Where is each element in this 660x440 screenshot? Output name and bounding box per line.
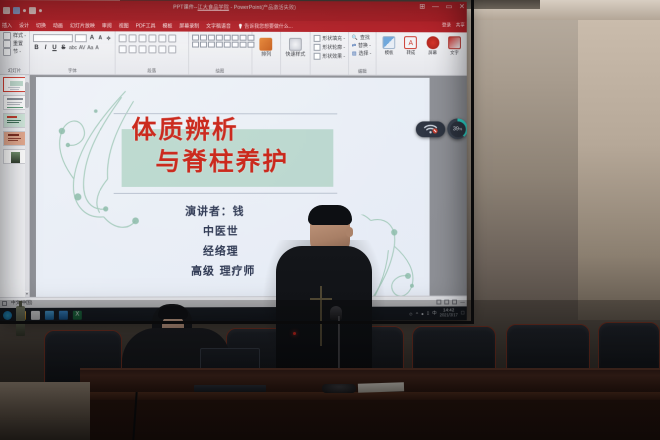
- presenter-hair: [308, 205, 352, 225]
- presenter-jacket-zip: [320, 286, 322, 346]
- presenter-jacket-detail: [310, 298, 332, 300]
- decrease-indent-icon[interactable]: [139, 34, 147, 42]
- arrange-label[interactable]: 排列: [261, 52, 271, 58]
- tab-speech[interactable]: 文字稿语音: [206, 23, 231, 30]
- tab-transitions[interactable]: 切换: [36, 22, 46, 29]
- tab-insert[interactable]: 插入: [2, 22, 12, 29]
- ribbon-group-drawing[interactable]: 绘图: [189, 32, 252, 75]
- ribbon-options-icon[interactable]: ⊞: [419, 4, 425, 12]
- shape-gallery[interactable]: [192, 35, 248, 48]
- numbering-icon[interactable]: [129, 34, 137, 42]
- slide-thumbnail-pane[interactable]: ▲: [0, 75, 30, 297]
- signin-button[interactable]: 登录: [442, 22, 451, 28]
- device-indicator-light: [293, 332, 296, 335]
- ribbon-group-paragraph[interactable]: 段落: [116, 31, 189, 74]
- shape-bracket-icon[interactable]: [215, 42, 222, 48]
- align-left-icon[interactable]: [119, 45, 127, 53]
- thumbnail-slide-2[interactable]: [3, 95, 26, 110]
- shape-oval-icon[interactable]: [231, 35, 238, 41]
- addin-speech[interactable]: 文字: [445, 36, 464, 55]
- shape-round-rect-icon[interactable]: [223, 35, 230, 41]
- ribbon-group-arrange[interactable]: 排列: [252, 32, 281, 75]
- projection-screen: PPT课件--江大食品学院 - PowerPoint(产品激活失败) ⊞ — ▭…: [0, 0, 467, 322]
- presenter-ear: [346, 227, 353, 237]
- reading-view-icon[interactable]: [452, 299, 457, 304]
- group-label-paragraph: 段落: [116, 68, 188, 74]
- decrease-font-icon[interactable]: A: [97, 35, 103, 41]
- editing-area: ▲: [0, 75, 467, 297]
- slide-subtitle-line-2[interactable]: 中医世: [203, 223, 239, 239]
- thumbnail-slide-1[interactable]: [3, 77, 26, 92]
- ribbon-group-quick-styles[interactable]: 快速样式: [281, 32, 310, 75]
- thumbnail-scrollbar[interactable]: [25, 76, 29, 291]
- thumbnail-slide-4[interactable]: [3, 131, 26, 146]
- attendee-hair: [158, 306, 188, 319]
- columns-icon[interactable]: [158, 45, 166, 53]
- chevron-up-icon[interactable]: ^: [416, 311, 418, 316]
- shape-square-icon[interactable]: [215, 35, 222, 41]
- shape-brace-icon[interactable]: [207, 42, 214, 48]
- conference-desk: [80, 368, 660, 440]
- shape-effects-icon[interactable]: [313, 53, 320, 60]
- shape-fill-icon[interactable]: [313, 35, 320, 42]
- maximize-button[interactable]: ▭: [446, 4, 452, 12]
- group-label-editing: 编辑: [349, 69, 376, 75]
- clock-date: 2021/3/17: [440, 313, 458, 318]
- shape-line-icon[interactable]: [200, 35, 207, 41]
- bold-button[interactable]: B: [33, 45, 40, 51]
- battery-percent-label: 39%: [450, 121, 466, 137]
- sorter-view-icon[interactable]: [445, 299, 450, 304]
- system-tray[interactable]: ☺ ^ ● ▯ 中 14:42 2021/3/17 ☐: [408, 309, 464, 318]
- share-button[interactable]: 共享: [456, 22, 465, 28]
- shape-triangle-icon[interactable]: [239, 35, 246, 41]
- slide-subtitle-line-1[interactable]: 演讲者：钱: [185, 203, 244, 219]
- close-button[interactable]: ✕: [459, 4, 465, 12]
- ribbon-group-shape-format[interactable]: 形状填充 - 形状轮廓 - 形状效果 -: [311, 32, 349, 75]
- increase-font-icon[interactable]: A: [89, 35, 95, 41]
- quick-style-icon[interactable]: [289, 38, 302, 51]
- ribbon-group-slides[interactable]: 样式 - 重置 节 - 幻灯片: [0, 31, 30, 74]
- select-label[interactable]: 选择 -: [359, 51, 372, 57]
- slide-count-icon: [2, 300, 7, 305]
- reset-icon[interactable]: [3, 40, 11, 48]
- title-bar: PPT课件--江大食品学院 - PowerPoint(产品激活失败) ⊞ — ▭…: [0, 0, 467, 22]
- zoom-level[interactable]: —: [460, 299, 464, 304]
- shape-arrow-icon[interactable]: [207, 35, 214, 41]
- battery-ring[interactable]: 39%: [447, 118, 467, 139]
- shape-banner-icon[interactable]: [231, 42, 238, 48]
- strikethrough-icon[interactable]: abc: [69, 45, 77, 51]
- powerpoint-window: PPT课件--江大食品学院 - PowerPoint(产品激活失败) ⊞ — ▭…: [0, 0, 467, 308]
- scene: PPT课件--江大食品学院 - PowerPoint(产品激活失败) ⊞ — ▭…: [0, 0, 660, 440]
- text-direction-icon[interactable]: [168, 34, 176, 42]
- desk-edge-trim: [80, 392, 660, 400]
- network-icon[interactable]: ▯: [427, 310, 429, 316]
- floating-status-widget[interactable]: 39%: [416, 118, 467, 139]
- ribbon-group-editing[interactable]: 🔍查找 ⇄替换 - ▧选择 - 编辑: [349, 32, 377, 75]
- ime-icon[interactable]: 中: [432, 310, 437, 316]
- convert-smartart-icon[interactable]: [168, 45, 176, 53]
- thumbnail-scroll-thumb[interactable]: [25, 82, 29, 108]
- line-spacing-icon[interactable]: [158, 34, 166, 42]
- group-label-drawing: 绘图: [189, 68, 251, 74]
- underline-button[interactable]: U: [51, 45, 58, 51]
- ribbon[interactable]: 样式 - 重置 节 - 幻灯片 A A ✧ B I: [0, 31, 467, 76]
- increase-indent-icon[interactable]: [149, 34, 157, 42]
- italic-button[interactable]: I: [42, 45, 49, 51]
- papers-on-desk: [358, 382, 404, 393]
- change-case-icon[interactable]: Aa: [87, 45, 93, 51]
- taskbar-clock[interactable]: 14:42 2021/3/17: [440, 309, 458, 318]
- wifi-off-icon[interactable]: [416, 121, 445, 137]
- windows-taskbar[interactable]: X ☺ ^ ● ▯ 中 14:42 2021/3/17 ☐: [0, 306, 467, 322]
- section-icon[interactable]: [3, 48, 11, 56]
- bullets-icon[interactable]: [119, 34, 127, 42]
- status-right-group[interactable]: —: [437, 299, 465, 304]
- title-rule-bottom: [114, 193, 338, 194]
- title-activation-note: (产品激活失败): [261, 5, 296, 11]
- addin-templates[interactable]: 模板: [380, 36, 399, 55]
- tell-me-search[interactable]: 告诉我您想要做什么...: [238, 23, 293, 30]
- thumbnail-slide-5[interactable]: [3, 149, 26, 164]
- shape-rect-icon[interactable]: [192, 35, 199, 41]
- title-link: 江大食品学院: [198, 5, 229, 11]
- excel-icon[interactable]: X: [73, 310, 82, 319]
- tab-animations[interactable]: 动画: [53, 22, 63, 29]
- slide-subtitle-line-3[interactable]: 经络理: [203, 243, 239, 259]
- tab-screen-record[interactable]: 屏幕录制: [179, 23, 199, 30]
- slide-subtitle-line-4[interactable]: 高级 理疗师: [191, 262, 255, 278]
- group-label-slides: 幻灯片: [0, 68, 29, 74]
- ribbon-group-pdf-addins[interactable]: 模板 A 转成 屏幕 文字: [377, 32, 467, 75]
- font-size-input[interactable]: [75, 34, 87, 42]
- podium-left: [0, 382, 90, 440]
- person-icon[interactable]: ☺: [408, 311, 413, 316]
- edge-icon[interactable]: [3, 310, 12, 319]
- tab-slideshow[interactable]: 幻灯片放映: [70, 22, 95, 29]
- tab-view[interactable]: 视图: [119, 22, 129, 29]
- justify-icon[interactable]: [149, 45, 157, 53]
- mail-icon[interactable]: [45, 310, 54, 319]
- replace-label[interactable]: 替换 -: [358, 43, 371, 49]
- shape-pentagon-icon[interactable]: [200, 42, 207, 48]
- lock-icon[interactable]: [31, 310, 40, 319]
- shape-callout-icon[interactable]: [239, 42, 246, 48]
- thumbnail-slide-3[interactable]: [3, 113, 26, 128]
- char-spacing-icon[interactable]: AV: [79, 45, 85, 51]
- tab-design[interactable]: 设计: [19, 22, 29, 29]
- arrange-icon[interactable]: [260, 38, 273, 51]
- microphone-head: [330, 306, 342, 320]
- layout-icon[interactable]: [3, 32, 11, 40]
- title-app: - PowerPoint: [229, 5, 261, 11]
- normal-view-icon[interactable]: [437, 299, 442, 304]
- slide-title-line-1[interactable]: 体质辨析: [132, 117, 239, 143]
- right-wall: [578, 0, 660, 320]
- shape-diamond-icon[interactable]: [192, 42, 199, 48]
- title-prefix: PPT课件--: [173, 5, 197, 11]
- shape-outline-icon[interactable]: [313, 44, 320, 51]
- clear-formatting-icon[interactable]: ✧: [105, 35, 111, 42]
- addin-screen-record[interactable]: 屏幕: [423, 36, 442, 55]
- minimize-button[interactable]: —: [432, 4, 439, 12]
- tab-pdf-tools[interactable]: PDF工具: [136, 22, 156, 29]
- align-right-icon[interactable]: [139, 45, 147, 53]
- account-area[interactable]: 登录 共享: [442, 22, 465, 28]
- window-title: PPT课件--江大食品学院 - PowerPoint(产品激活失败): [0, 3, 467, 12]
- microphone-base: [322, 384, 356, 393]
- window-controls[interactable]: ⊞ — ▭ ✕: [419, 4, 464, 12]
- water-bottle: [16, 306, 25, 336]
- font-name-input[interactable]: [33, 34, 73, 42]
- people-icon[interactable]: [59, 310, 68, 319]
- slide-title-line-2[interactable]: 与脊柱养护: [155, 149, 289, 175]
- tab-review[interactable]: 审阅: [102, 22, 112, 29]
- slide-canvas[interactable]: 体质辨析 与脊柱养护 演讲者：钱 中医世 经络理 高级 理疗师: [30, 75, 467, 297]
- shadow-button[interactable]: S: [60, 45, 67, 51]
- group-label-font: 字体: [30, 68, 115, 74]
- shield-icon[interactable]: ●: [421, 311, 424, 316]
- quick-style-label[interactable]: 快速样式: [286, 52, 306, 58]
- find-label[interactable]: 查找: [360, 35, 370, 41]
- ribbon-group-font[interactable]: A A ✧ B I U S abc AV Aa A 字体: [30, 31, 116, 74]
- addin-convert-pdf[interactable]: A 转成: [401, 36, 420, 55]
- align-center-icon[interactable]: [129, 45, 137, 53]
- tab-templates[interactable]: 模板: [162, 23, 172, 30]
- font-color-icon[interactable]: A: [95, 45, 98, 51]
- shape-star-icon[interactable]: [223, 42, 230, 48]
- laptop-keyboard: [194, 385, 266, 392]
- notifications-icon[interactable]: ☐: [461, 310, 465, 316]
